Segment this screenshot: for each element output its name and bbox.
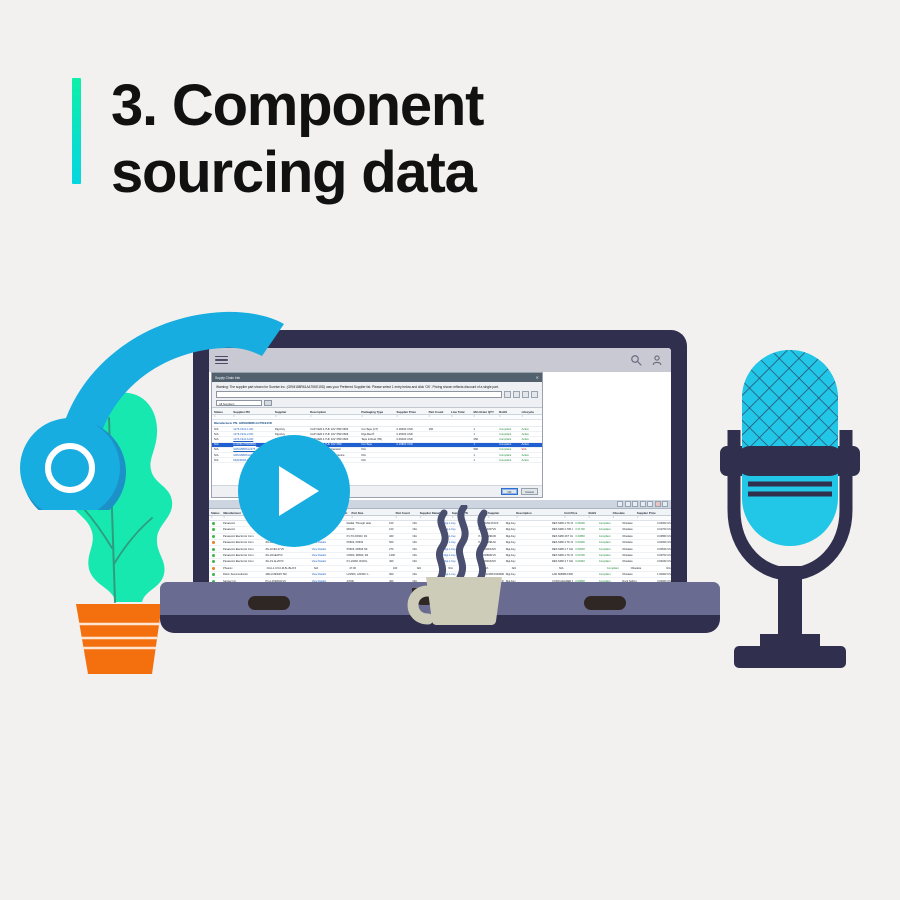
play-button[interactable] <box>238 435 350 547</box>
app-top-bar <box>209 348 671 372</box>
dialog-grid-cell: Compliant <box>497 458 519 462</box>
spreadsheet-cell: Panasonic Electronic Com. <box>221 535 264 538</box>
dialog-grid-cell: Line Total <box>449 408 471 414</box>
dialog-grid-cell <box>427 437 449 441</box>
page-title: 3. Component sourcing data <box>111 72 483 207</box>
toolbar-button-delete[interactable] <box>655 501 661 507</box>
dialog-filter-row: All Suppliers <box>212 400 542 407</box>
dialog-grid-cell <box>449 453 471 457</box>
spreadsheet-cell: = <box>514 516 562 520</box>
spreadsheet-cell: R0100 <box>345 528 388 531</box>
spreadsheet-cell: 0.00700 <box>573 554 596 557</box>
coffee-mug-illustration <box>406 505 516 625</box>
dialog-grid-cell: N/A <box>212 437 231 441</box>
toolbar-button-copy[interactable] <box>647 501 653 507</box>
search-go-button[interactable] <box>504 391 511 398</box>
spreadsheet-cell <box>209 573 221 576</box>
dialog-grid-cell <box>449 437 471 441</box>
dialog-grid-cell: = <box>471 415 497 420</box>
spreadsheet-cell: RES SMD 4.7K OHM 1% <box>550 541 573 544</box>
spreadsheet-cell: Obsolete <box>620 560 655 563</box>
spreadsheet-cell: Obsolete <box>629 567 665 570</box>
dialog-grid-cell: 0.09100 USD <box>395 437 427 441</box>
spreadsheet-cell: RES SMD 4K7 OHM 1% <box>550 535 573 538</box>
spreadsheet-cell: 0.04000 USD <box>655 522 671 525</box>
spreadsheet-cell <box>209 554 221 557</box>
spreadsheet-cell: P0603, R0603 N0 <box>345 548 388 551</box>
search-icon[interactable] <box>630 354 642 366</box>
mic-band <box>736 446 844 476</box>
spreadsheet-cell: RES SMD 4.7K OHM 1% <box>550 554 573 557</box>
spreadsheet-cell: Obsolete <box>620 548 655 551</box>
status-dot-icon <box>212 567 215 570</box>
spreadsheet-cell: 0.06000 <box>573 522 596 525</box>
status-dot-icon <box>212 573 215 576</box>
spreadsheet-cell: P1-10260, R1001, <box>345 560 388 563</box>
spreadsheet-cell: LAR SMD89 1500 SMD <box>550 573 573 576</box>
mic-mesh-area <box>742 350 838 458</box>
spreadsheet-cell: Compliant <box>605 567 629 570</box>
dialog-grid-cell: Supplier PN <box>231 408 273 414</box>
spreadsheet-cell: ZG-1N1E40Y0 <box>263 554 309 557</box>
dialog-grid-cell: = <box>212 415 231 420</box>
dialog-grid-cell: Part Count <box>427 408 449 414</box>
dialog-grid-cell: = <box>308 415 359 420</box>
spreadsheet-cell: Radial, Through Hole <box>345 522 388 525</box>
spreadsheet-cell <box>209 522 221 525</box>
base-notch-right <box>584 596 626 610</box>
close-icon[interactable]: ✕ <box>536 376 539 380</box>
spreadsheet-cell <box>209 528 221 531</box>
dialog-grid-cell: Packaging Type <box>359 408 394 414</box>
dialog-grid-cell: Supplier Price <box>395 408 427 414</box>
dialog-grid-cell <box>427 432 449 436</box>
dialog-grid-cell: 1276-1941-1-ND <box>231 427 273 431</box>
spreadsheet-cell: Obsolete <box>620 573 655 576</box>
spreadsheet-cell: = <box>209 516 221 520</box>
spreadsheet-cell: 0.00300 <box>573 541 596 544</box>
status-dot-icon <box>212 554 215 557</box>
dialog-grid-cell: 1276-1941-2-ND <box>231 432 273 436</box>
spreadsheet-cell: 0.00520 <box>573 548 596 551</box>
dialog-grid-cell: Cut Tape (CT) <box>359 427 394 431</box>
grid-view-button[interactable] <box>522 391 529 398</box>
dialog-grid-cell: Tape & Reel (TR) <box>359 437 394 441</box>
spreadsheet-cell: 0.00340 USD <box>655 560 671 563</box>
spreadsheet-cell: 2ML1CSFERY M0 <box>263 573 309 576</box>
accent-bar <box>72 78 81 184</box>
spreadsheet-cell: CCA-1.0-5.0-M-5L-BL/0.5 <box>265 567 312 570</box>
spreadsheet-cell <box>209 535 221 538</box>
toolbar-button-export[interactable] <box>625 501 631 507</box>
toolbar-button-print[interactable] <box>632 501 638 507</box>
dialog-grid-cell: CAP CER 4.7UF 10V X5R 0603 <box>308 427 359 431</box>
dialog-grid-cell: = <box>449 415 471 420</box>
dialog-grid-cell <box>449 443 471 447</box>
dialog-grid-cell: N/A <box>359 448 394 452</box>
spreadsheet-cell: Unit Price <box>562 509 586 515</box>
spreadsheet-cell: Panasonic Electronic Com. <box>221 541 264 544</box>
dialog-grid-cell: N/A <box>212 427 231 431</box>
dialog-warning-message: Warning: The supplier part shown for Sun… <box>212 382 542 390</box>
dialog-grid-cell: Cut Tape <box>359 443 394 447</box>
mug-body <box>426 577 502 625</box>
spreadsheet-cell: 0.01700 USD <box>655 528 671 531</box>
spreadsheet-cell: N/A <box>510 567 557 570</box>
supplier-filter-select[interactable]: All Suppliers <box>216 400 262 406</box>
dialog-grid-cell: 250 <box>471 437 497 441</box>
dialog-grid-cell: N/A <box>359 453 394 457</box>
dialog-grid-cell: CAP CER 4.7UF 10V X5R 0603 <box>308 432 359 436</box>
mic-stem <box>778 566 802 638</box>
spreadsheet-cell: 1.00000 USD <box>655 573 671 576</box>
dialog-grid-cell: 0.18200 USD <box>395 427 427 431</box>
steam-line-1 <box>439 513 445 579</box>
search-clear-button[interactable] <box>513 391 520 398</box>
search-input[interactable] <box>216 391 502 398</box>
spreadsheet-cell: Obsolete <box>620 541 655 544</box>
spreadsheet-cell: C0603, R0603, R4 <box>345 554 388 557</box>
dialog-grid-cell: = <box>427 415 449 420</box>
spreadsheet-cell: Rohm Semiconductor <box>221 573 264 576</box>
spreadsheet-cell: Obsolete <box>611 509 635 515</box>
dialog-grid-cell: = <box>359 415 394 420</box>
dialog-grid-cell: EOL <box>520 448 542 452</box>
dialog-grid-cell: Active <box>520 427 542 431</box>
spreadsheet-cell: N/A <box>664 567 671 570</box>
dialog-title-text: Supply Chain Info <box>215 376 240 380</box>
spreadsheet-cell: Compliant <box>597 528 620 531</box>
spreadsheet-cell: Compliant <box>597 548 620 551</box>
dialog-grid-cell <box>449 432 471 436</box>
dialog-grid-cell: Compliant <box>497 443 519 447</box>
dialog-grid-cell: 1 <box>471 458 497 462</box>
spreadsheet-cell: View Details <box>310 548 345 551</box>
spreadsheet-cell: Panasonic Electronic Com. <box>221 548 264 551</box>
dialog-grid-cell: Digi-Reel® <box>359 432 394 436</box>
dialog-grid-cell: Min Order QTY <box>471 408 497 414</box>
spreadsheet-cell: = <box>350 516 394 520</box>
dialog-grid-cell: = <box>520 415 542 420</box>
slide-title-block: 3. Component sourcing data <box>72 72 483 207</box>
dialog-grid-cell <box>427 458 449 462</box>
steam-line-2 <box>459 507 465 577</box>
spreadsheet-cell: LZ1500, LZ1500 1... <box>345 573 388 576</box>
dialog-grid-cell: Status <box>212 408 231 414</box>
dialog-grid-cell: Lifecycle <box>520 408 542 414</box>
spreadsheet-cell: 0.00860 USD <box>655 535 671 538</box>
status-dot-icon <box>212 560 215 563</box>
dialog-grid-cell: 150 <box>427 427 449 431</box>
spreadsheet-cell <box>209 567 221 570</box>
status-dot-icon <box>212 535 215 538</box>
list-view-button[interactable] <box>531 391 538 398</box>
dialog-grid-cell: Compliant <box>497 427 519 431</box>
spreadsheet-cell: Description <box>514 509 562 515</box>
spreadsheet-cell: N/A <box>312 567 348 570</box>
spreadsheet-cell: 0.00520 USD <box>655 548 671 551</box>
spreadsheet-cell: RES SMD 4.7 OHM 1/10 W <box>550 560 573 563</box>
dialog-grid-cell: = <box>497 415 519 420</box>
spreadsheet-cell: Compliant <box>597 560 620 563</box>
spreadsheet-cell: 0.01700 <box>573 528 596 531</box>
dialog-title-bar: Supply Chain Info ✕ <box>212 373 542 382</box>
dialog-grid-cell: Compliant <box>497 432 519 436</box>
dialog-grid-cell: Active <box>520 432 542 436</box>
ok-button[interactable]: OK <box>501 488 518 495</box>
dialog-grid-cell: N/A <box>212 432 231 436</box>
spreadsheet-cell <box>209 548 221 551</box>
dialog-grid-cell: Description <box>308 408 359 414</box>
spreadsheet-cell: Part Size <box>350 509 394 515</box>
spreadsheet-cell: Compliant <box>597 554 620 557</box>
spreadsheet-cell: View Details <box>310 554 345 557</box>
dialog-grid-cell: 0.25400 USD <box>395 432 427 436</box>
spreadsheet-cell: RES SMD 4.7 OHM 1/4 W <box>550 548 573 551</box>
spreadsheet-cell: View Details <box>310 573 345 576</box>
microphone-illustration <box>700 338 880 674</box>
spreadsheet-cell: ZG-1S.AL20YD <box>263 560 309 563</box>
spreadsheet-cell: Status <box>209 509 221 515</box>
spreadsheet-cell <box>209 541 221 544</box>
dialog-grid-cell: 1 <box>471 427 497 431</box>
spreadsheet-cell: Compliant <box>597 573 620 576</box>
dialog-grid-cell <box>395 448 427 452</box>
apply-filter-button[interactable] <box>264 400 272 406</box>
dialog-grid-cell: N/A <box>359 458 394 462</box>
dialog-grid-cell: = <box>395 415 427 420</box>
play-triangle-icon <box>279 466 319 516</box>
spreadsheet-cell: RES SMD 4.70K OHM 1/10W <box>550 528 573 531</box>
status-dot-icon <box>212 548 215 551</box>
spreadsheet-cell: RES SMD 4.7K OHM 1% <box>550 522 573 525</box>
spreadsheet-cell: Phoenix <box>221 567 264 570</box>
dialog-grid-cell: = <box>273 415 308 420</box>
mic-stand-base <box>734 646 846 668</box>
dialog-grid-cell: 1 <box>471 453 497 457</box>
dialog-grid-cell: 1 <box>471 443 497 447</box>
spreadsheet-cell: 0.00340 <box>573 560 596 563</box>
illustration-scene: StatusManufacturerManufacturer Part Numb… <box>0 290 900 710</box>
spreadsheet-cell: Obsolete <box>620 522 655 525</box>
dialog-grid-cell: Active <box>520 458 542 462</box>
spreadsheet-cell: P0603, P0603 <box>345 541 388 544</box>
dialog-grid-cell: Active <box>520 453 542 457</box>
spreadsheet-cell: = <box>611 516 635 520</box>
dialog-grid-cell: 500 <box>471 448 497 452</box>
spreadsheet-cell: Compliant <box>597 541 620 544</box>
toolbar-button-filter[interactable] <box>640 501 646 507</box>
dialog-grid-cell: Active <box>520 437 542 441</box>
toolbar-button-save[interactable] <box>617 501 623 507</box>
dialog-grid-cell: Compliant <box>497 448 519 452</box>
spreadsheet-cell: 27.00 <box>347 567 390 570</box>
dialog-grid-cell <box>449 427 471 431</box>
spreadsheet-cell: Compliant <box>597 522 620 525</box>
spreadsheet-cell: ZG-1K4F14YV0 <box>263 548 309 551</box>
spreadsheet-cell: Obsolete <box>620 554 655 557</box>
spreadsheet-cell: 0.00700 USD <box>655 554 671 557</box>
dialog-grid-cell: N/A <box>212 443 231 447</box>
spreadsheet-cell: Panasonic Electronic Com. <box>221 554 264 557</box>
dialog-grid-cell: 0.19800 USD <box>395 443 427 447</box>
dialog-grid-cell: Compliant <box>497 437 519 441</box>
spreadsheet-cell: 0.00860 <box>573 535 596 538</box>
spreadsheet-cell: Obsolete <box>620 528 655 531</box>
dialog-grid-cell: RoHS <box>497 408 519 414</box>
dialog-grid-cell: Digi-Key <box>273 427 308 431</box>
steam-line-3 <box>479 513 485 579</box>
dialog-grid-cell: Active <box>520 443 542 447</box>
hamburger-menu-icon[interactable] <box>215 356 228 365</box>
dialog-search-row <box>212 390 542 400</box>
toolbar-button-help[interactable] <box>662 501 668 507</box>
cancel-button[interactable]: Cancel <box>521 488 538 495</box>
spreadsheet-cell: N/A <box>557 567 581 570</box>
dialog-grid-cell: Supplier <box>273 408 308 414</box>
dialog-grid-group-header: Manufacturer PN: GRM188R61A475KE15D <box>212 420 542 427</box>
dialog-grid-cell <box>427 448 449 452</box>
dialog-grid-cell <box>427 443 449 447</box>
spreadsheet-cell: Panasonic Electronic Com. <box>221 560 264 563</box>
spreadsheet-cell: Supplier Price <box>635 509 671 515</box>
dialog-grid-cell <box>395 453 427 457</box>
dialog-grid-cell: N/A <box>212 458 231 462</box>
mug-handle <box>413 591 428 619</box>
dialog-grid-cell <box>449 448 471 452</box>
spreadsheet-cell: = <box>586 516 610 520</box>
spreadsheet-cell: Obsolete <box>620 535 655 538</box>
status-dot-icon <box>212 522 215 525</box>
spreadsheet-cell: 0.00300 USD <box>655 541 671 544</box>
dialog-grid-cell: 1 <box>471 432 497 436</box>
spreadsheet-cell: View Details <box>310 560 345 563</box>
dialog-grid-cell: N/A <box>212 453 231 457</box>
status-dot-icon <box>212 541 215 544</box>
status-dot-icon <box>212 528 215 531</box>
spreadsheet-cell: = <box>635 516 671 520</box>
base-notch-left <box>248 596 290 610</box>
spreadsheet-cell: P1-TO-F0603, R1 <box>345 535 388 538</box>
dialog-grid-cell: Compliant <box>497 453 519 457</box>
spreadsheet-cell: = <box>562 516 586 520</box>
dialog-grid-cell <box>449 458 471 462</box>
plant-leaf-shape <box>68 393 172 602</box>
user-account-icon[interactable] <box>651 354 663 366</box>
spreadsheet-cell: RoHS <box>586 509 610 515</box>
dialog-grid-cell <box>395 458 427 462</box>
dialog-grid-cell: = <box>231 415 273 420</box>
spreadsheet-cell <box>209 560 221 563</box>
dialog-grid-cell: N/A <box>212 448 231 452</box>
spreadsheet-cell: Compliant <box>597 535 620 538</box>
dialog-grid-cell <box>427 453 449 457</box>
